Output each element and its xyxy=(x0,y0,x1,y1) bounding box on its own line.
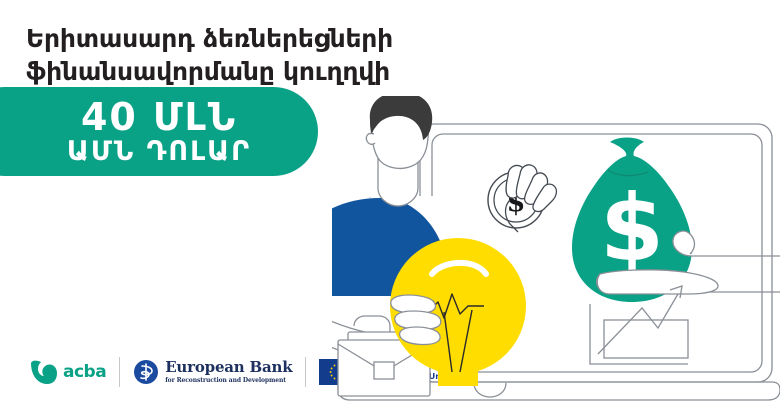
ebrd-globe-icon xyxy=(133,359,159,385)
acba-wordmark: acba xyxy=(63,362,106,382)
logo-divider-1 xyxy=(119,357,120,387)
promo-banner: Երիտասարդ ձեռներեցների ֆինանսավորմանը կո… xyxy=(0,0,780,409)
amount-pill-primary-label: 40 ՄԼՆ xyxy=(81,98,237,136)
svg-text:$: $ xyxy=(600,175,664,282)
logo-ebrd: European Bank for Reconstruction and Dev… xyxy=(133,359,292,385)
dollar-coin: $ xyxy=(488,165,556,232)
amount-pill: 40 ՄԼՆ ԱՄՆ ԴՈԼԱՐ xyxy=(0,87,318,176)
young-entrepreneur-funding-illustration: $ xyxy=(332,96,780,409)
logo-acba: acba xyxy=(28,359,106,385)
acba-leaf-icon xyxy=(28,359,58,385)
ebrd-name-line2: for Reconstruction and Development xyxy=(165,377,292,384)
ebrd-name-line1: European Bank xyxy=(165,360,292,376)
logo-divider-2 xyxy=(305,357,306,387)
amount-pill-secondary-label: ԱՄՆ ԴՈԼԱՐ xyxy=(67,138,251,165)
page-title: Երիտասարդ ձեռներեցների ֆինանսավորմանը կո… xyxy=(26,22,496,88)
